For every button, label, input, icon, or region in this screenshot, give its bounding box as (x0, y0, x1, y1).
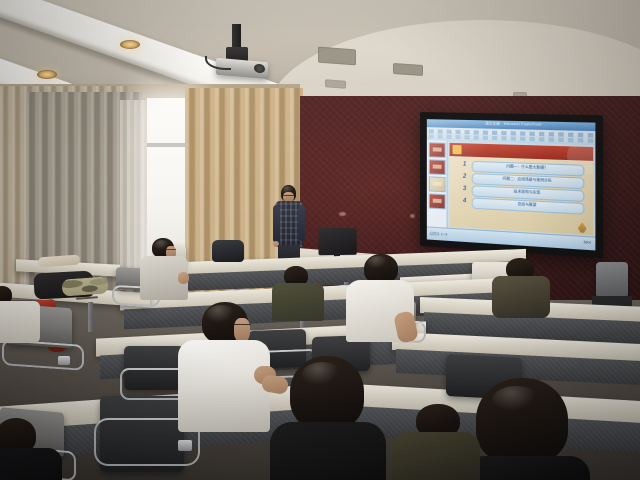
thumb-mark (432, 147, 441, 151)
zoom-level[interactable]: 66% (584, 240, 591, 245)
student-torso (270, 422, 386, 480)
student-olive-jacket (392, 404, 482, 480)
student-row2-right (348, 254, 418, 346)
slide-counter: 幻灯片 2 / 4 (430, 230, 448, 236)
chair-chrome-fitting (58, 356, 70, 365)
student-row1-center (0, 418, 66, 480)
ceiling-vent (325, 79, 346, 88)
chair-chrome-fitting (178, 440, 192, 451)
slide-thumbnail[interactable] (428, 176, 445, 192)
ceiling-vent (318, 47, 356, 66)
desk-leg (88, 302, 93, 332)
thumb-mark (432, 198, 441, 202)
wall-speck (339, 212, 346, 216)
student-row1-left (138, 238, 194, 302)
camouflage-bag-item (61, 276, 108, 296)
slide-bullet-number: 2 (460, 173, 470, 183)
student-face (234, 318, 250, 342)
thumb-mark (432, 164, 441, 168)
student-torso (178, 340, 270, 432)
eyeglasses-icon (283, 195, 294, 198)
slide-bullet-text: 总结与展望 (473, 200, 584, 211)
slide-badge-icon (453, 145, 462, 154)
backpack-item (212, 240, 244, 262)
classroom-photo: 演示文稿 - Microsoft PowerPoint (0, 0, 640, 480)
wall-speck (410, 214, 415, 218)
slide-editing-pane[interactable]: 问题一：什么是大数据？ 1 问题二：应用场景与案例分析 2 技术架构与实现 3 … (448, 141, 596, 238)
presenter-arm-right (298, 205, 305, 241)
presenter-arm-left (273, 205, 280, 243)
student-torso (464, 456, 590, 480)
projection-screen[interactable]: 演示文稿 - Microsoft PowerPoint (420, 112, 603, 258)
current-slide[interactable]: 问题一：什么是大数据？ 1 问题二：应用场景与案例分析 2 技术架构与实现 3 … (450, 143, 594, 236)
student-front-right (466, 378, 596, 480)
eyeglasses-icon (232, 324, 251, 328)
hair-sheen (206, 305, 236, 325)
hair-sheen (492, 386, 540, 414)
office-chair-far-right (596, 262, 628, 298)
hair-sheen (367, 256, 389, 270)
student-far-right (492, 258, 554, 316)
slide-decor-shape (578, 222, 587, 233)
hair-sheen (302, 362, 342, 388)
downlight-icon (120, 40, 140, 49)
app-title: 演示文稿 - Microsoft PowerPoint (485, 121, 541, 127)
projection-surface: 演示文稿 - Microsoft PowerPoint (427, 119, 596, 250)
projector-lens-icon (254, 64, 265, 74)
slide-bullet-text: 问题二：应用场景与案例分析 (473, 176, 584, 186)
slide-bullet-number: 3 (460, 185, 470, 195)
slide-bullet-number: 4 (460, 197, 470, 207)
student-torso (0, 448, 62, 480)
slide-thumbnail[interactable] (428, 193, 445, 209)
ceiling-vent (393, 63, 423, 76)
student-front-center (276, 356, 396, 480)
student-torso (392, 432, 480, 480)
eyeglasses-icon (166, 249, 176, 252)
slide-bullet-text: 技术架构与实现 (473, 188, 584, 198)
slide-thumbnail[interactable] (428, 159, 445, 175)
slide-thumbnail[interactable] (428, 142, 445, 158)
downlight-icon (37, 70, 57, 79)
student-back-left (0, 286, 66, 346)
slide-title-band (450, 143, 594, 161)
slide-bullet-number: 1 (460, 160, 470, 170)
thumb-mark (432, 181, 441, 185)
student-torso (0, 301, 40, 343)
slide-bullet-text: 问题一：什么是大数据？ (473, 163, 584, 172)
student-hand (178, 272, 189, 284)
student-row2-center (182, 302, 286, 432)
slide-thumbnail-pane[interactable] (427, 140, 448, 228)
student-torso (492, 276, 550, 318)
presenter (272, 185, 306, 265)
